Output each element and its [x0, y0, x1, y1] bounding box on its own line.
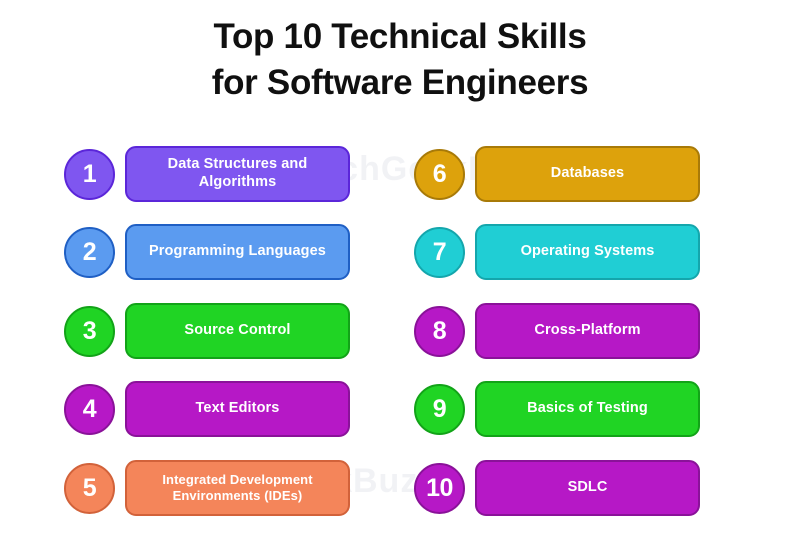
skill-label-pill[interactable]: Integrated Development Environments (IDE… — [125, 460, 350, 516]
skill-item[interactable]: 1 Data Structures and Algorithms — [64, 143, 414, 205]
skill-label-pill[interactable]: Databases — [475, 146, 700, 202]
skill-number-badge: 7 — [414, 227, 465, 278]
skill-item[interactable]: 2 Programming Languages — [64, 221, 414, 283]
skill-number-badge: 1 — [64, 149, 115, 200]
skill-item[interactable]: 5 Integrated Development Environments (I… — [64, 457, 414, 519]
skill-item[interactable]: 4 Text Editors — [64, 378, 414, 440]
skill-number-badge: 2 — [64, 227, 115, 278]
skill-label-pill[interactable]: SDLC — [475, 460, 700, 516]
skill-number-badge: 6 — [414, 149, 465, 200]
page-title: Top 10 Technical Skills for Software Eng… — [0, 14, 800, 105]
skill-number-badge: 8 — [414, 306, 465, 357]
skill-number-badge: 10 — [414, 463, 465, 514]
skill-label-pill[interactable]: Basics of Testing — [475, 381, 700, 437]
skill-item[interactable]: 3 Source Control — [64, 300, 414, 362]
skill-label-pill[interactable]: Source Control — [125, 303, 350, 359]
skills-column-right: 6 Databases 7 Operating Systems 8 Cross-… — [414, 143, 764, 533]
page-title-line-1: Top 10 Technical Skills — [0, 14, 800, 60]
skill-label-pill[interactable]: Programming Languages — [125, 224, 350, 280]
skills-grid: 1 Data Structures and Algorithms 2 Progr… — [0, 143, 800, 533]
skill-item[interactable]: 8 Cross-Platform — [414, 300, 764, 362]
skill-number-badge: 5 — [64, 463, 115, 514]
page-title-line-2: for Software Engineers — [0, 60, 800, 106]
skill-item[interactable]: 9 Basics of Testing — [414, 378, 764, 440]
skill-number-badge: 4 — [64, 384, 115, 435]
skill-number-badge: 9 — [414, 384, 465, 435]
skill-number-badge: 3 — [64, 306, 115, 357]
skill-label-pill[interactable]: Text Editors — [125, 381, 350, 437]
skills-column-left: 1 Data Structures and Algorithms 2 Progr… — [64, 143, 414, 533]
skill-label-pill[interactable]: Data Structures and Algorithms — [125, 146, 350, 202]
skill-label-pill[interactable]: Cross-Platform — [475, 303, 700, 359]
skill-item[interactable]: 10 SDLC — [414, 457, 764, 519]
skill-label-pill[interactable]: Operating Systems — [475, 224, 700, 280]
skill-item[interactable]: 6 Databases — [414, 143, 764, 205]
skill-item[interactable]: 7 Operating Systems — [414, 221, 764, 283]
